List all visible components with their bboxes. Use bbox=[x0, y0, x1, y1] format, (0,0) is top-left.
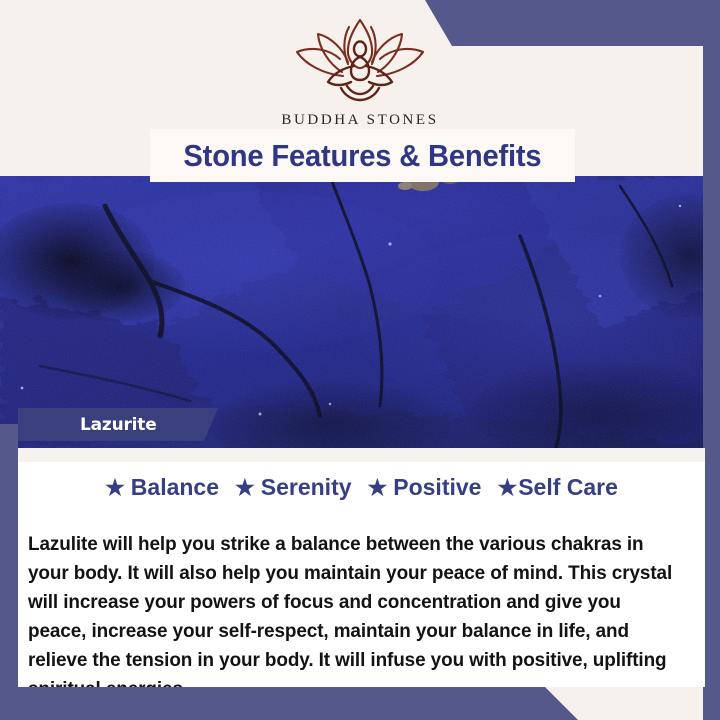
star-icon: ★ bbox=[368, 477, 388, 499]
page-title-band: Stone Features & Benefits bbox=[150, 129, 575, 182]
star-icon: ★ bbox=[235, 477, 255, 499]
panel-top-accent bbox=[18, 448, 705, 462]
benefit-item-self-care: ★ Self Care bbox=[497, 474, 617, 501]
benefit-label: Positive bbox=[393, 474, 481, 501]
benefits-list: ★ Balance ★ Serenity ★ Positive ★ Self C… bbox=[18, 474, 705, 501]
frame-accent-left bbox=[0, 424, 18, 694]
benefit-item-positive: ★ Positive bbox=[368, 474, 482, 501]
stone-name: Lazurite bbox=[80, 415, 157, 435]
benefit-label: Self Care bbox=[518, 474, 618, 501]
star-icon: ★ bbox=[497, 477, 517, 499]
frame-accent-right bbox=[703, 0, 720, 720]
stone-name-badge: Lazurite bbox=[18, 408, 218, 441]
benefit-label: Balance bbox=[131, 474, 219, 501]
benefit-item-balance: ★ Balance bbox=[105, 474, 219, 501]
benefit-item-serenity: ★ Serenity bbox=[235, 474, 352, 501]
brand-name: BUDDHA STONES bbox=[0, 112, 720, 129]
lotus-meditation-icon bbox=[285, 16, 435, 108]
stone-description: Lazulite will help you strike a balance … bbox=[28, 530, 680, 704]
page-title: Stone Features & Benefits bbox=[183, 138, 541, 174]
stone-benefits-infographic: BUDDHA STONES bbox=[0, 0, 720, 720]
star-icon: ★ bbox=[105, 477, 125, 499]
stone-texture-graphic bbox=[0, 176, 720, 448]
description-panel: ★ Balance ★ Serenity ★ Positive ★ Self C… bbox=[18, 448, 705, 687]
benefit-label: Serenity bbox=[261, 474, 352, 501]
lazurite-stone-photo bbox=[0, 176, 720, 448]
